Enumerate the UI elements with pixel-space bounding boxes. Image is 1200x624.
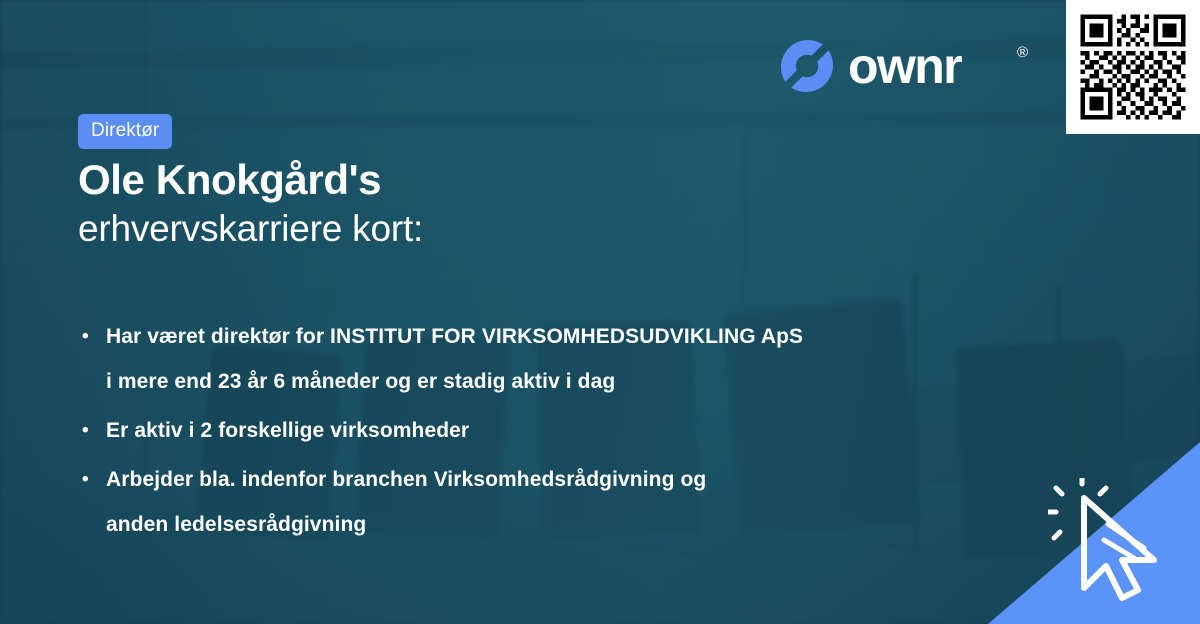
list-item: Er aktiv i 2 forskellige virksomheder — [80, 408, 1040, 453]
registered-trademark-icon: ® — [1017, 45, 1028, 60]
list-item-line-2: i mere end 23 år 6 måneder og er stadig … — [106, 359, 1040, 404]
list-item-line-1: Har været direktør for INSTITUT FOR VIRK… — [106, 325, 803, 348]
page-title: Ole Knokgård's erhvervskarriere kort: — [78, 158, 778, 251]
title-line-2: erhvervskarriere kort: — [78, 207, 778, 251]
ownr-logo: ownr ® — [778, 34, 1028, 100]
corner-accent — [988, 442, 1200, 624]
career-card: Direktør Ole Knokgård's erhvervskarriere… — [0, 0, 1200, 624]
card-content: Direktør Ole Knokgård's erhvervskarriere… — [0, 0, 1200, 624]
list-item: Arbejder bla. indenfor branchen Virksomh… — [80, 457, 1040, 547]
mouse-cursor-click-icon — [1048, 478, 1178, 606]
ownr-wordmark: ownr — [848, 42, 961, 90]
career-facts-list: Har været direktør for INSTITUT FOR VIRK… — [80, 314, 1040, 551]
list-item-line-1: Er aktiv i 2 forskellige virksomheder — [106, 419, 469, 442]
title-line-1: Ole Knokgård's — [78, 158, 778, 203]
list-item: Har været direktør for INSTITUT FOR VIRK… — [80, 314, 1040, 404]
role-badge: Direktør — [78, 114, 172, 149]
list-item-line-1: Arbejder bla. indenfor branchen Virksomh… — [106, 468, 706, 491]
list-item-line-2: anden ledelsesrådgivning — [106, 502, 1040, 547]
ownr-circle-swirl-icon — [778, 37, 836, 95]
qr-code[interactable] — [1066, 0, 1200, 134]
